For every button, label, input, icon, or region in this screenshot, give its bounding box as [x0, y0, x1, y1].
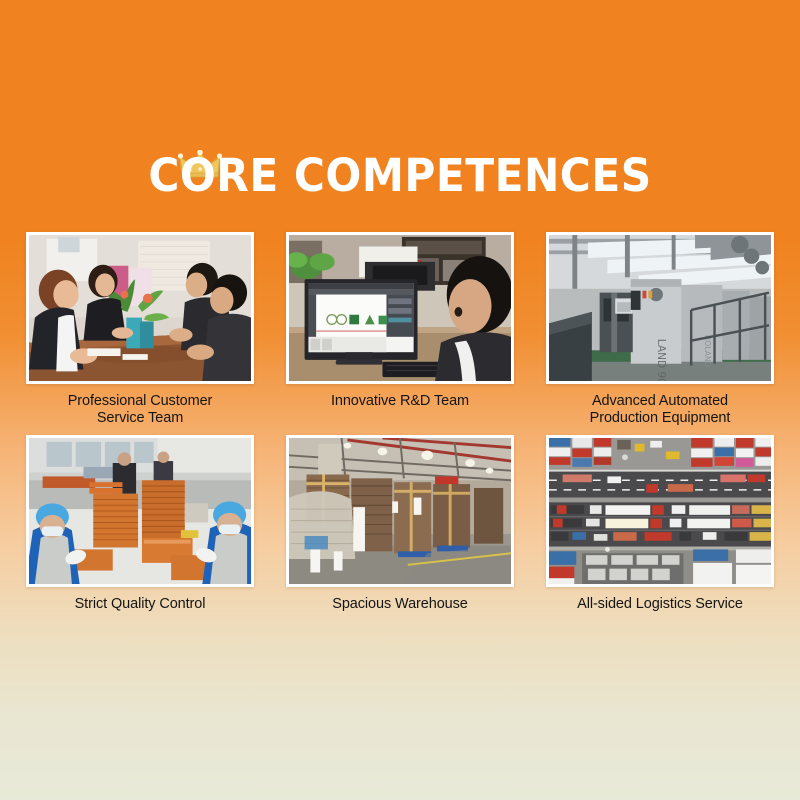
title-block: CORE COMPETENCES	[0, 148, 800, 204]
card-label-line2: Production Equipment	[546, 410, 774, 427]
core-competences-banner: CORE COMPETENCES	[0, 0, 800, 800]
card-label-line1: Spacious Warehouse	[286, 596, 514, 613]
card-label: All-sided Logistics Service	[546, 596, 774, 630]
competence-card[interactable]: Professional Customer Service Team	[26, 232, 254, 427]
photo-frame: LAND 900 ROLAND	[546, 232, 774, 384]
competence-card[interactable]: LAND 900 ROLAND	[546, 232, 774, 427]
designer-at-monitor-photo	[289, 235, 511, 381]
competence-card[interactable]: All-sided Logistics Service	[546, 435, 774, 630]
printing-press-photo: LAND 900 ROLAND	[549, 235, 771, 381]
card-label-line1: Advanced Automated	[546, 393, 774, 410]
photo-frame	[286, 435, 514, 587]
photo-frame	[26, 232, 254, 384]
card-label: Strict Quality Control	[26, 596, 254, 630]
svg-text:LAND 900: LAND 900	[655, 339, 668, 381]
card-label-line1: Professional Customer	[26, 393, 254, 410]
quality-control-photo	[29, 438, 251, 584]
card-label-line1: Innovative R&D Team	[286, 393, 514, 410]
card-label-line1: Strict Quality Control	[26, 596, 254, 613]
warehouse-photo	[289, 438, 511, 584]
card-label: Advanced Automated Production Equipment	[546, 393, 774, 427]
competence-card[interactable]: Innovative R&D Team	[286, 232, 514, 427]
card-label: Spacious Warehouse	[286, 596, 514, 630]
photo-frame	[286, 232, 514, 384]
competence-grid: Professional Customer Service Team	[26, 232, 774, 630]
competence-card[interactable]: Spacious Warehouse	[286, 435, 514, 630]
card-label-line1: All-sided Logistics Service	[546, 596, 774, 613]
logistics-aerial-photo	[549, 438, 771, 584]
page-title: CORE COMPETENCES	[24, 148, 776, 204]
photo-frame	[546, 435, 774, 587]
card-label: Professional Customer Service Team	[26, 393, 254, 427]
svg-text:ROLAND: ROLAND	[703, 335, 712, 368]
photo-frame	[26, 435, 254, 587]
competence-card[interactable]: Strict Quality Control	[26, 435, 254, 630]
card-label-line2: Service Team	[26, 410, 254, 427]
card-label: Innovative R&D Team	[286, 393, 514, 427]
meeting-room-photo	[29, 235, 251, 381]
